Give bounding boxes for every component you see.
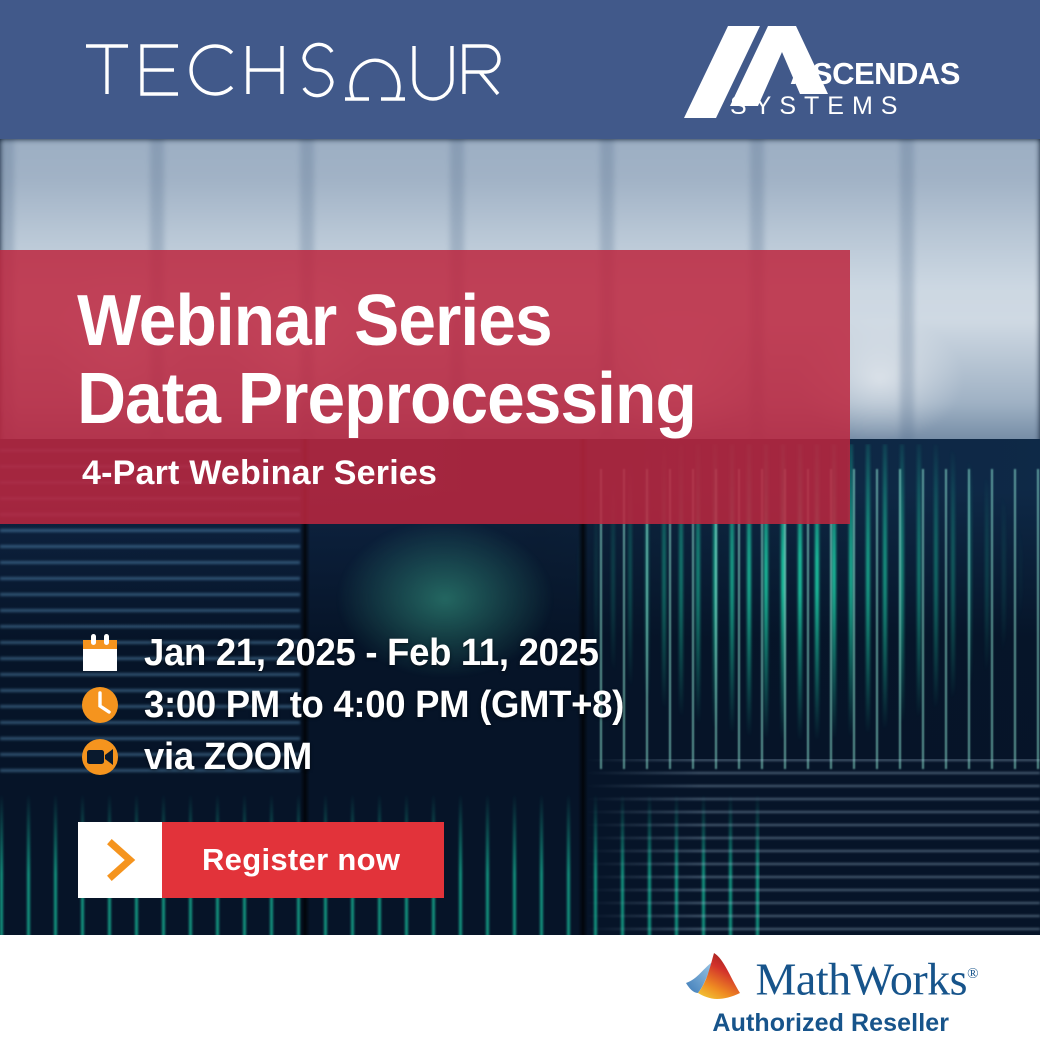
detail-row-time: 3:00 PM to 4:00 PM (GMT+8) [78,680,644,730]
authorized-reseller-text: Authorized Reseller [712,1009,949,1038]
register-now-button[interactable]: Register now [78,822,444,898]
detail-date-text: Jan 21, 2025 - Feb 11, 2025 [144,632,599,675]
hero-title-block: Webinar Series Data Preprocessing 4-Part… [0,250,850,524]
hero-title-line-2: Data Preprocessing [0,360,799,438]
ascendas-logo: ASCENDAS SYSTEMS [672,22,972,122]
detail-row-platform: via ZOOM [78,732,644,782]
mathworks-membrane-icon [684,949,750,1005]
ascendas-wordmark: ASCENDAS [790,56,960,91]
detail-row-date: Jan 21, 2025 - Feb 11, 2025 [78,628,644,678]
webinar-promo-banner: ASCENDAS SYSTEMS Webinar Series Data Pre… [0,0,1040,1040]
background-data-rows [585,759,1040,935]
video-camera-icon [78,735,122,779]
calendar-icon [78,631,122,675]
detail-time-text: 3:00 PM to 4:00 PM (GMT+8) [144,684,624,727]
techsource-logo [82,36,502,102]
detail-platform-text: via ZOOM [144,736,312,779]
hero-subtitle: 4-Part Webinar Series [0,438,850,493]
footer-bar: MathWorks® Authorized Reseller [0,935,1040,1040]
ascendas-systems-word: SYSTEMS [730,92,905,120]
mathworks-wordmark: MathWorks® [756,951,978,1002]
clock-icon [78,683,122,727]
header-bar: ASCENDAS SYSTEMS [0,0,1040,139]
chevron-right-icon [78,822,162,898]
mathworks-logo: MathWorks® Authorized Reseller [684,949,978,1038]
omega-symbol [345,60,405,99]
event-details-list: Jan 21, 2025 - Feb 11, 2025 3:00 PM to 4… [78,628,644,784]
registered-mark: ® [967,966,978,982]
hero-title-line-1: Webinar Series [0,250,799,360]
register-now-label: Register now [162,822,444,898]
